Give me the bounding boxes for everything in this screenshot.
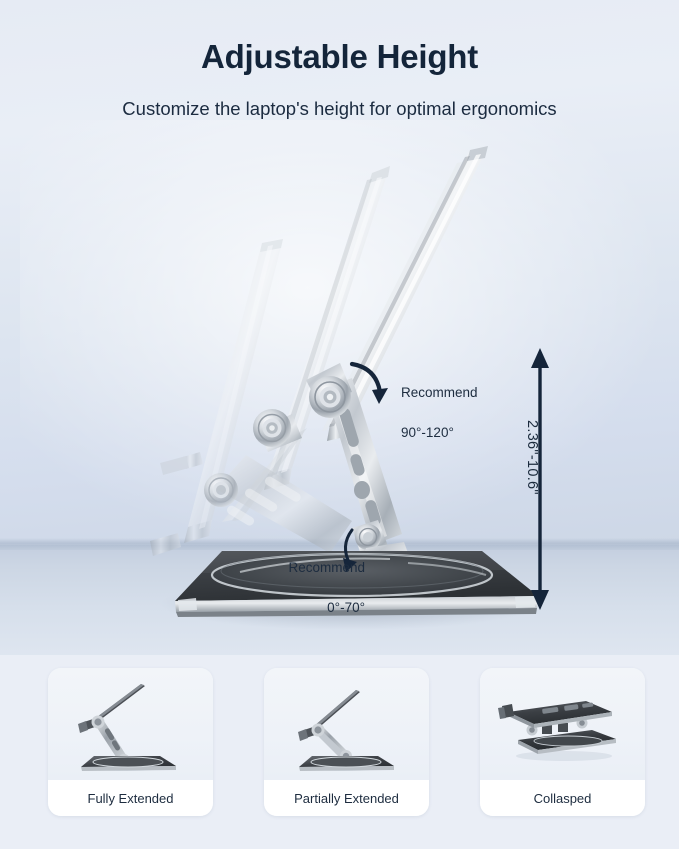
upper-hinge-pivot xyxy=(309,376,351,418)
height-dimension-label: 2.36"-10.6" xyxy=(524,420,540,495)
card-fully-extended[interactable]: Fully Extended xyxy=(48,668,213,816)
card-label-partially-extended: Partially Extended xyxy=(264,780,429,816)
card-image-area xyxy=(264,668,429,780)
annotation-lower-line1: Recommend xyxy=(288,560,365,575)
annotation-upper-line2: 90°-120° xyxy=(401,425,454,440)
stand-collapsed-icon xyxy=(480,668,645,780)
lower-left-hinge-pivot xyxy=(204,473,238,507)
card-partially-extended[interactable]: Partially Extended xyxy=(264,668,429,816)
card-collapsed[interactable]: Collasped xyxy=(480,668,645,816)
card-label-collapsed: Collasped xyxy=(480,780,645,816)
card-label-fully-extended: Fully Extended xyxy=(48,780,213,816)
stand-fully-extended-icon xyxy=(48,668,213,780)
annotation-lower-line2: 0°-70° xyxy=(245,598,365,618)
state-cards-row: Fully Extended xyxy=(48,668,645,816)
infographic-page: Adjustable Height Customize the laptop's… xyxy=(0,0,679,849)
annotation-upper-angle: Recommend 90°-120° xyxy=(386,363,478,463)
middle-hinge-pivot xyxy=(253,409,291,447)
annotation-lower-angle: Recommend 0°-70° xyxy=(245,538,365,658)
annotation-upper-line1: Recommend xyxy=(401,385,478,400)
stand-partially-extended-icon xyxy=(264,668,429,780)
card-image-area xyxy=(48,668,213,780)
card-image-area xyxy=(480,668,645,780)
